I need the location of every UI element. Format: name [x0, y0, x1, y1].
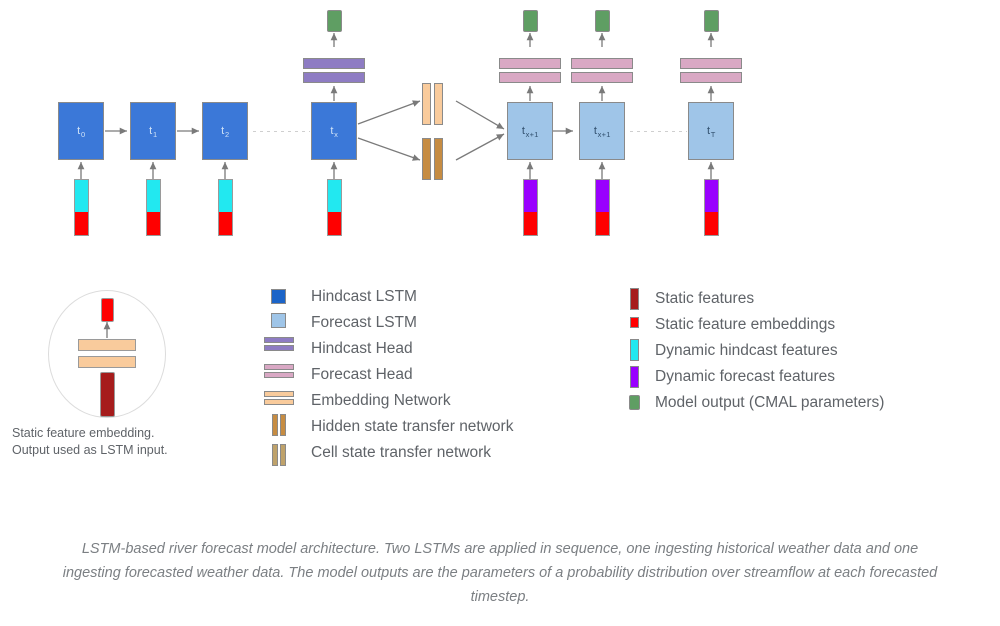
forecast-head-layer-1 — [680, 58, 742, 69]
legend-item-model-output: Model output (CMAL parameters) — [655, 395, 884, 411]
hindcast-lstm-cell-1[interactable]: t1 — [130, 102, 176, 160]
static-embedding-segment — [328, 212, 341, 235]
hindcast-input-bar-0 — [74, 179, 89, 236]
cell-transfer-bar-1 — [422, 138, 431, 180]
dynamic-forecast-segment — [596, 180, 609, 212]
forecast-head-T[interactable] — [680, 58, 742, 83]
figure-caption: LSTM-based river forecast model architec… — [60, 538, 940, 610]
hidden-transfer-bar-2 — [434, 83, 443, 125]
cell-label: t1 — [149, 126, 157, 137]
cell-label: tT — [707, 126, 715, 137]
legend-item-hindcast-lstm: Hindcast LSTM — [311, 289, 417, 305]
hindcast-input-bar-2 — [218, 179, 233, 236]
legend-hindcast-head-bar-1 — [264, 337, 294, 343]
forecast-input-bar-T — [704, 179, 719, 236]
legend-item-dynamic-forecast-features: Dynamic forecast features — [655, 369, 835, 385]
legend-item-dynamic-hindcast-features: Dynamic hindcast features — [655, 343, 838, 359]
forecast-lstm-cell-1[interactable]: tx+1 — [579, 102, 625, 160]
dynamic-forecast-segment — [524, 180, 537, 212]
dynamic-forecast-segment — [705, 180, 718, 212]
cell-label: t0 — [77, 126, 85, 137]
legend-item-static-feature-embeddings: Static feature embeddings — [655, 317, 835, 333]
inset-caption-line-2: Output used as LSTM input. — [12, 442, 168, 459]
hindcast-lstm-cell-2[interactable]: t2 — [202, 102, 248, 160]
legend-swatch-forecast-lstm — [271, 313, 286, 328]
cell-subscript: x — [334, 130, 338, 139]
static-embedding-output-bar — [101, 298, 114, 322]
hindcast-head-layer-2 — [303, 72, 365, 83]
forecast-head-layer-2 — [571, 72, 633, 83]
forecast-lstm-cell-0[interactable]: tx+1 — [507, 102, 553, 160]
legend-item-hidden-state-transfer: Hidden state transfer network — [311, 419, 513, 435]
legend-item-static-features: Static features — [655, 291, 754, 307]
forecast-head-1[interactable] — [571, 58, 633, 83]
inset-caption-line-1: Static feature embedding. — [12, 425, 168, 442]
static-features-input-bar — [100, 372, 115, 417]
forecast-input-bar-0 — [523, 179, 538, 236]
legend-hidden-transfer-bar-2 — [280, 414, 286, 436]
legend-swatch-hindcast-head — [264, 337, 294, 351]
legend-item-cell-state-transfer: Cell state transfer network — [311, 445, 491, 461]
hidden-transfer-bar-1 — [422, 83, 431, 125]
cell-label: tx — [330, 126, 337, 137]
legend-hidden-transfer-bar-1 — [272, 414, 278, 436]
legend-forecast-head-bar-1 — [264, 364, 294, 370]
embedding-layer-2 — [78, 356, 136, 368]
embedding-layer-1 — [78, 339, 136, 351]
legend-swatch-embedding-network — [264, 391, 294, 405]
hindcast-lstm-cell-x[interactable]: tx — [311, 102, 357, 160]
legend-swatch-forecast-head — [264, 364, 294, 378]
static-embedding-segment — [705, 212, 718, 235]
cell-transfer-bar-2 — [434, 138, 443, 180]
legend-embedding-bar-2 — [264, 399, 294, 405]
cell-subscript: 1 — [153, 130, 157, 139]
legend-swatch-hindcast-lstm — [271, 289, 286, 304]
legend-forecast-head-bar-2 — [264, 372, 294, 378]
cell-state-transfer-network[interactable] — [422, 138, 443, 180]
forecast-head-layer-1 — [571, 58, 633, 69]
legend-item-embedding-network: Embedding Network — [311, 393, 451, 409]
static-embedding-segment — [596, 212, 609, 235]
legend-swatch-static-features — [630, 288, 639, 310]
static-embedding-segment — [219, 212, 232, 235]
model-output-hindcast — [327, 10, 342, 32]
hindcast-head[interactable] — [303, 58, 365, 83]
legend-swatch-dynamic-forecast-features — [630, 366, 639, 388]
legend-cell-transfer-bar-1 — [272, 444, 278, 466]
cell-subscript: x+1 — [526, 130, 539, 139]
forecast-head-layer-2 — [680, 72, 742, 83]
dynamic-hindcast-segment — [328, 180, 341, 212]
hidden-state-transfer-network[interactable] — [422, 83, 443, 125]
cell-subscript: T — [711, 130, 716, 139]
diagram-canvas: t0 t1 t2 tx tx+1 — [0, 0, 1000, 626]
legend-swatch-cell-state-transfer — [272, 444, 286, 466]
cell-label: tx+1 — [522, 126, 538, 137]
forecast-input-bar-1 — [595, 179, 610, 236]
cell-subscript: 2 — [225, 130, 229, 139]
static-embedding-segment — [75, 212, 88, 235]
model-output-forecast-0 — [523, 10, 538, 32]
forecast-head-layer-2 — [499, 72, 561, 83]
legend-swatch-model-output — [629, 395, 640, 410]
forecast-head-0[interactable] — [499, 58, 561, 83]
hindcast-head-layer-1 — [303, 58, 365, 69]
legend-cell-transfer-bar-2 — [280, 444, 286, 466]
hindcast-input-bar-x — [327, 179, 342, 236]
model-output-forecast-T — [704, 10, 719, 32]
model-output-forecast-1 — [595, 10, 610, 32]
legend-item-forecast-lstm: Forecast LSTM — [311, 315, 417, 331]
static-embedding-segment — [147, 212, 160, 235]
cell-subscript: 0 — [81, 130, 85, 139]
dynamic-hindcast-segment — [147, 180, 160, 212]
legend-hindcast-head-bar-2 — [264, 345, 294, 351]
inset-caption: Static feature embedding. Output used as… — [12, 425, 168, 459]
static-embedding-segment — [524, 212, 537, 235]
forecast-lstm-cell-T[interactable]: tT — [688, 102, 734, 160]
cell-label: t2 — [221, 126, 229, 137]
dynamic-hindcast-segment — [75, 180, 88, 212]
hindcast-lstm-cell-0[interactable]: t0 — [58, 102, 104, 160]
legend-swatch-hidden-state-transfer — [272, 414, 286, 436]
forecast-head-layer-1 — [499, 58, 561, 69]
hindcast-ellipsis — [253, 131, 310, 132]
legend-swatch-dynamic-hindcast-features — [630, 339, 639, 361]
legend-embedding-bar-1 — [264, 391, 294, 397]
legend-swatch-static-feature-embeddings — [630, 317, 639, 328]
legend-item-forecast-head: Forecast Head — [311, 367, 413, 383]
legend-item-hindcast-head: Hindcast Head — [311, 341, 413, 357]
dynamic-hindcast-segment — [219, 180, 232, 212]
cell-label: tx+1 — [594, 126, 610, 137]
cell-subscript: x+1 — [598, 130, 611, 139]
hindcast-input-bar-1 — [146, 179, 161, 236]
forecast-ellipsis — [630, 131, 687, 132]
